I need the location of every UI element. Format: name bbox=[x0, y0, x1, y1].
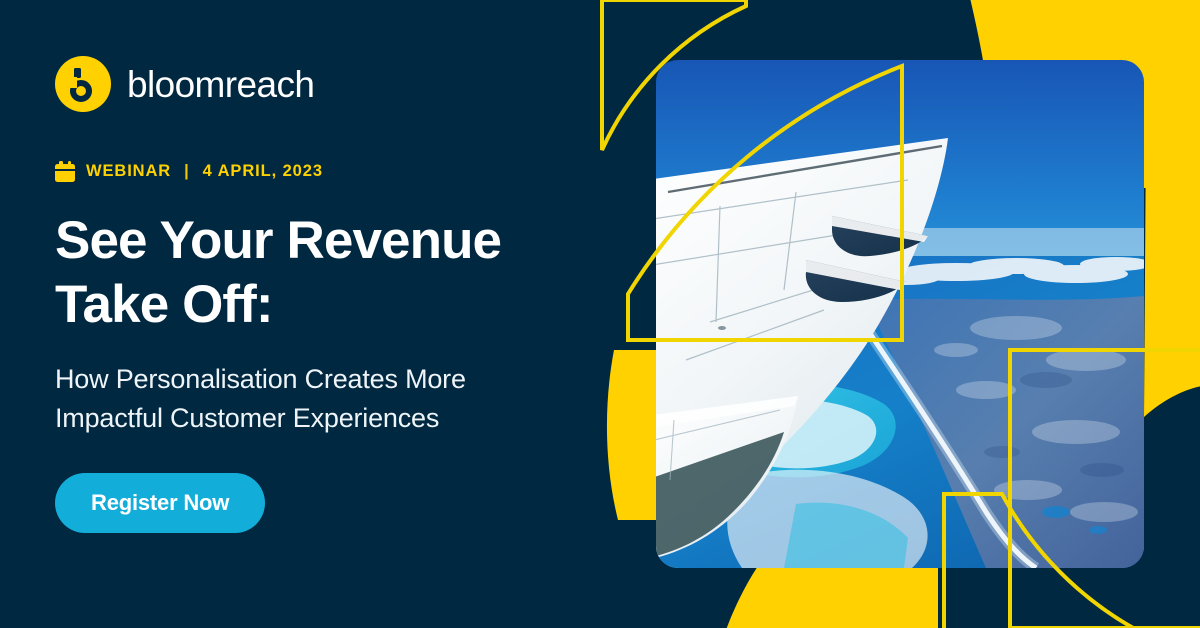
content-column: bloomreach WEBINAR | 4 APRIL, 2023 See Y… bbox=[55, 56, 615, 533]
brand-logo[interactable]: bloomreach bbox=[55, 56, 615, 112]
meta-separator: | bbox=[182, 162, 192, 181]
headline-line-1: See Your Revenue bbox=[55, 211, 501, 270]
event-date: 4 APRIL, 2023 bbox=[203, 162, 323, 181]
webinar-promo-banner: bloomreach WEBINAR | 4 APRIL, 2023 See Y… bbox=[0, 0, 1200, 628]
decor-yellow-shape-bottom-center bbox=[718, 566, 938, 628]
page-title: See Your Revenue Take Off: bbox=[55, 209, 615, 336]
headline-line-2: Take Off: bbox=[55, 275, 273, 334]
brand-name: bloomreach bbox=[127, 66, 314, 103]
decor-yellow-shape-right-edge bbox=[1138, 105, 1200, 445]
subhead-line-1: How Personalisation Creates More bbox=[55, 364, 466, 394]
event-meta: WEBINAR | 4 APRIL, 2023 bbox=[55, 161, 615, 182]
bloomreach-b-mark-icon bbox=[55, 56, 111, 112]
page-subtitle: How Personalisation Creates More Impactf… bbox=[55, 360, 615, 437]
hero-photo-airplane-wing bbox=[656, 60, 1144, 568]
register-now-button[interactable]: Register Now bbox=[55, 473, 265, 533]
subhead-line-2: Impactful Customer Experiences bbox=[55, 403, 439, 433]
calendar-icon bbox=[55, 161, 75, 182]
event-type-label: WEBINAR bbox=[86, 162, 171, 181]
